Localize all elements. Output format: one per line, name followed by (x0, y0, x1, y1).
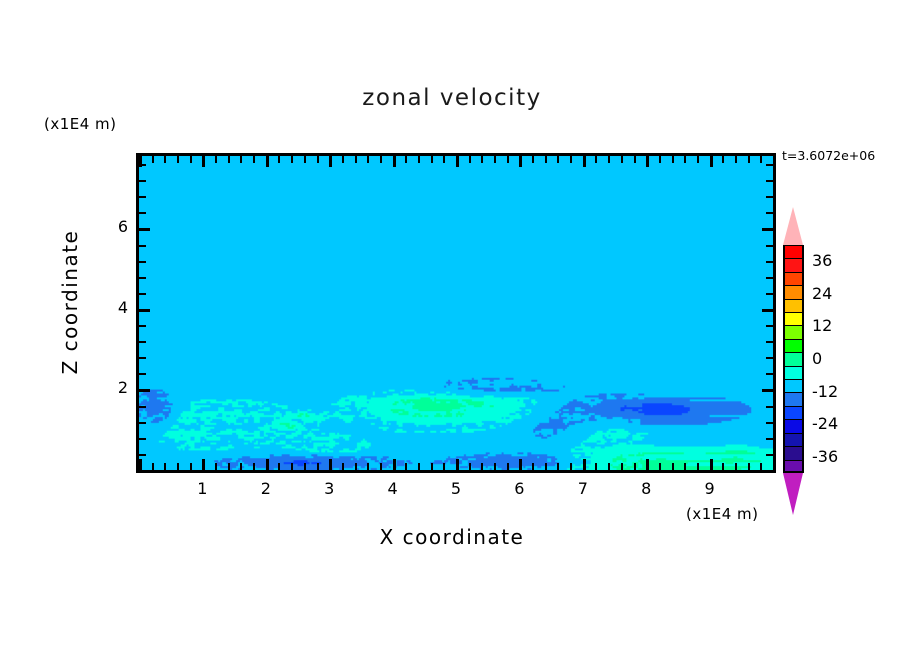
axis-tick (431, 463, 433, 470)
colorbar-cell (783, 419, 804, 432)
axis-tick (766, 357, 773, 359)
axis-tick (766, 470, 773, 472)
axis-tick (684, 463, 686, 470)
axis-tick (190, 463, 192, 470)
axis-tick (621, 156, 623, 163)
axis-tick (545, 463, 547, 470)
axis-tick (152, 463, 154, 470)
axis-tick (329, 156, 332, 167)
axis-tick (317, 156, 319, 163)
axis-tick (355, 156, 357, 163)
axis-tick (760, 463, 762, 470)
x-axis-unit-label: (x1E4 m) (686, 505, 759, 523)
axis-tick-label: 2 (88, 378, 128, 397)
axis-tick (646, 459, 649, 470)
x-axis-title: X coordinate (232, 525, 672, 549)
axis-tick (722, 463, 724, 470)
axis-tick (215, 156, 217, 163)
colorbar-cell (783, 312, 804, 325)
axis-tick (152, 156, 154, 163)
axis-tick (342, 156, 344, 163)
axis-tick (139, 454, 146, 456)
axis-tick (139, 357, 146, 359)
axis-tick (355, 463, 357, 470)
axis-tick (494, 156, 496, 163)
axis-tick (190, 156, 192, 163)
axis-tick (405, 463, 407, 470)
axis-tick (766, 212, 773, 214)
colorbar-tick-label: 24 (812, 284, 832, 303)
colorbar-over-arrow (783, 207, 803, 245)
page-title: zonal velocity (0, 85, 904, 111)
axis-tick (304, 156, 306, 163)
axis-tick (418, 156, 420, 163)
axis-tick (766, 293, 773, 295)
axis-tick (139, 459, 142, 470)
axis-tick (253, 156, 255, 163)
axis-tick (557, 463, 559, 470)
axis-tick (621, 463, 623, 470)
axis-tick (766, 341, 773, 343)
axis-tick (481, 156, 483, 163)
axis-tick (766, 261, 773, 263)
colorbar-tick-label: -24 (812, 414, 838, 433)
colorbar-tick-label: -12 (812, 382, 838, 401)
axis-tick (766, 164, 773, 166)
axis-tick (766, 373, 773, 375)
axis-tick-label: 7 (563, 479, 603, 498)
colorbar-cell (783, 352, 804, 365)
axis-tick (139, 245, 146, 247)
axis-tick (342, 463, 344, 470)
axis-tick-label: 9 (690, 479, 730, 498)
axis-tick (139, 373, 146, 375)
colorbar-under-arrow (783, 473, 803, 515)
axis-tick (494, 463, 496, 470)
axis-tick (139, 309, 150, 312)
axis-tick (748, 156, 750, 163)
axis-tick (659, 463, 661, 470)
axis-tick (697, 463, 699, 470)
colorbar-cell (783, 433, 804, 446)
axis-tick (139, 341, 146, 343)
axis-tick (456, 459, 459, 470)
colorbar-cell (783, 406, 804, 419)
axis-tick (291, 156, 293, 163)
axis-tick (766, 245, 773, 247)
axis-tick (393, 156, 396, 167)
axis-tick-label: 6 (499, 479, 539, 498)
axis-tick (519, 156, 522, 167)
axis-tick (393, 459, 396, 470)
axis-tick (278, 463, 280, 470)
axis-tick (570, 156, 572, 163)
axis-tick (519, 459, 522, 470)
axis-tick (762, 389, 773, 392)
axis-tick-label: 3 (309, 479, 349, 498)
axis-tick (139, 261, 146, 263)
colorbar-cell (783, 460, 804, 473)
time-stamp-label: t=3.6072e+06 (782, 148, 875, 163)
axis-tick (139, 470, 146, 472)
axis-tick (253, 463, 255, 470)
axis-tick (139, 180, 146, 182)
colorbar-cell (783, 446, 804, 459)
axis-tick (443, 156, 445, 163)
axis-tick-label: 2 (246, 479, 286, 498)
axis-tick (469, 156, 471, 163)
velocity-field-canvas (139, 156, 773, 470)
axis-tick (762, 228, 773, 231)
axis-tick (266, 459, 269, 470)
axis-tick (672, 156, 674, 163)
axis-tick (608, 463, 610, 470)
axis-tick (139, 164, 146, 166)
axis-tick (202, 459, 205, 470)
axis-tick (766, 422, 773, 424)
axis-tick (507, 156, 509, 163)
colorbar-cell (783, 366, 804, 379)
axis-tick (164, 156, 166, 163)
colorbar-cell (783, 258, 804, 271)
axis-tick (329, 459, 332, 470)
axis-tick (710, 156, 713, 167)
axis-tick (557, 156, 559, 163)
axis-tick (139, 438, 146, 440)
axis-tick (532, 463, 534, 470)
axis-tick (545, 156, 547, 163)
axis-tick (672, 463, 674, 470)
axis-tick (735, 463, 737, 470)
axis-tick-label: 4 (88, 298, 128, 317)
axis-tick (469, 463, 471, 470)
axis-tick (443, 463, 445, 470)
axis-tick (278, 156, 280, 163)
colorbar-tick-label: 36 (812, 251, 832, 270)
axis-tick (456, 156, 459, 167)
axis-tick (139, 406, 146, 408)
axis-tick (766, 406, 773, 408)
axis-tick-label: 4 (373, 479, 413, 498)
axis-tick (139, 325, 146, 327)
colorbar-cell (783, 379, 804, 392)
axis-tick (177, 156, 179, 163)
axis-tick-label: 1 (182, 479, 222, 498)
axis-tick (595, 156, 597, 163)
colorbar-cell (783, 339, 804, 352)
axis-tick (710, 459, 713, 470)
axis-tick (766, 454, 773, 456)
axis-tick (773, 459, 776, 470)
axis-tick (139, 196, 146, 198)
axis-tick (634, 156, 636, 163)
axis-tick (583, 459, 586, 470)
colorbar-tick-label: 0 (812, 349, 822, 368)
axis-tick (266, 156, 269, 167)
colorbar-cell (783, 285, 804, 298)
axis-tick (773, 156, 776, 167)
axis-tick (317, 463, 319, 470)
axis-tick-label: 8 (626, 479, 666, 498)
axis-tick (367, 156, 369, 163)
axis-tick (291, 463, 293, 470)
colorbar-cell (783, 245, 804, 258)
colorbar-tick-label: -36 (812, 447, 838, 466)
z-axis-unit-label: (x1E4 m) (44, 115, 117, 133)
axis-tick (177, 463, 179, 470)
axis-tick (766, 196, 773, 198)
axis-tick (139, 228, 150, 231)
axis-tick (532, 156, 534, 163)
axis-tick (215, 463, 217, 470)
axis-tick-label: 5 (436, 479, 476, 498)
axis-tick (139, 212, 146, 214)
colorbar-cell (783, 272, 804, 285)
colorbar (783, 245, 804, 473)
axis-tick (202, 156, 205, 167)
axis-tick (634, 463, 636, 470)
axis-tick (240, 463, 242, 470)
axis-tick (367, 463, 369, 470)
axis-tick (139, 277, 146, 279)
axis-tick (646, 156, 649, 167)
axis-tick (481, 463, 483, 470)
axis-tick (766, 438, 773, 440)
axis-tick (583, 156, 586, 167)
axis-tick (304, 463, 306, 470)
axis-tick (380, 463, 382, 470)
axis-tick (766, 325, 773, 327)
axis-tick (507, 463, 509, 470)
colorbar-tick-label: 12 (812, 316, 832, 335)
axis-tick (139, 422, 146, 424)
axis-tick (766, 277, 773, 279)
axis-tick (164, 463, 166, 470)
axis-tick (139, 293, 146, 295)
axis-tick (766, 180, 773, 182)
colorbar-cell (783, 325, 804, 338)
y-axis-title: Z coordinate (58, 202, 82, 402)
axis-tick (659, 156, 661, 163)
axis-tick (431, 156, 433, 163)
contour-plot-area (136, 153, 776, 473)
axis-tick (228, 156, 230, 163)
axis-tick (380, 156, 382, 163)
axis-tick (570, 463, 572, 470)
axis-tick (684, 156, 686, 163)
axis-tick (748, 463, 750, 470)
axis-tick (405, 156, 407, 163)
colorbar-cell (783, 299, 804, 312)
axis-tick (762, 309, 773, 312)
axis-tick (240, 156, 242, 163)
axis-tick (228, 463, 230, 470)
axis-tick (595, 463, 597, 470)
axis-tick (735, 156, 737, 163)
axis-tick (418, 463, 420, 470)
axis-tick (697, 156, 699, 163)
axis-tick (722, 156, 724, 163)
axis-tick (608, 156, 610, 163)
axis-tick (139, 389, 150, 392)
colorbar-cell (783, 392, 804, 405)
axis-tick (760, 156, 762, 163)
axis-tick-label: 6 (88, 217, 128, 236)
